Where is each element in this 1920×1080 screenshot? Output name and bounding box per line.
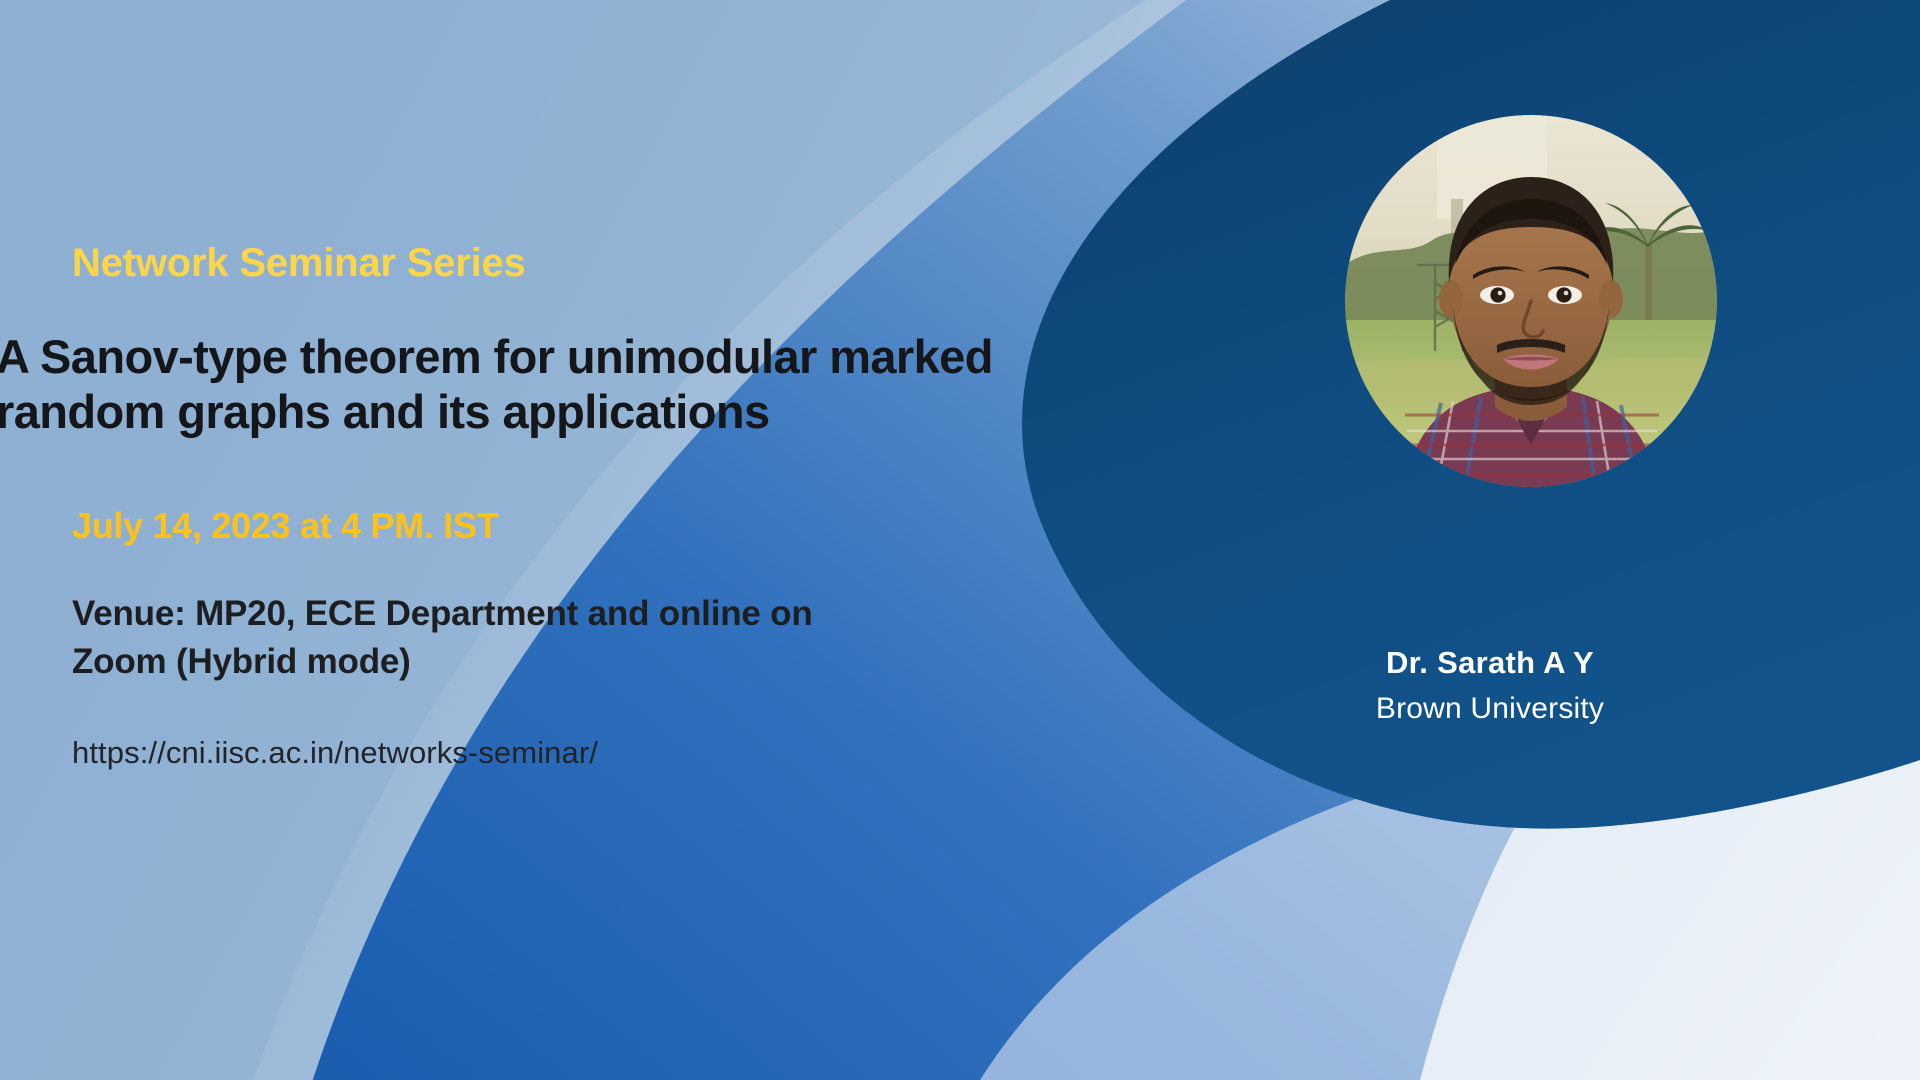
seminar-poster: Network Seminar Series A Sanov-type theo…: [0, 0, 1920, 1080]
talk-title: A Sanov-type theorem for unimodular mark…: [0, 330, 1196, 439]
venue-line-1: Venue: MP20, ECE Department and online o…: [72, 590, 1152, 638]
date-time: July 14, 2023 at 4 PM. IST: [72, 505, 498, 547]
poster-text-column: Network Seminar Series A Sanov-type theo…: [0, 0, 1180, 860]
venue-info: Venue: MP20, ECE Department and online o…: [72, 590, 1152, 685]
seminar-url[interactable]: https://cni.iisc.ac.in/networks-seminar/: [72, 735, 598, 771]
series-kicker: Network Seminar Series: [72, 243, 526, 283]
speaker-photo: [1345, 115, 1717, 487]
talk-title-line-1: A Sanov-type theorem for unimodular mark…: [0, 330, 1196, 385]
logo-strip: INSTITUTE OF INDIAN SCIENCE भारतीय विज्ञ…: [0, 880, 1920, 1080]
speaker-name: Dr. Sarath A Y: [1270, 645, 1710, 681]
venue-line-2: Zoom (Hybrid mode): [72, 638, 1152, 686]
talk-title-line-2: random graphs and its applications: [0, 385, 1196, 440]
speaker-affiliation: Brown University: [1270, 692, 1710, 726]
